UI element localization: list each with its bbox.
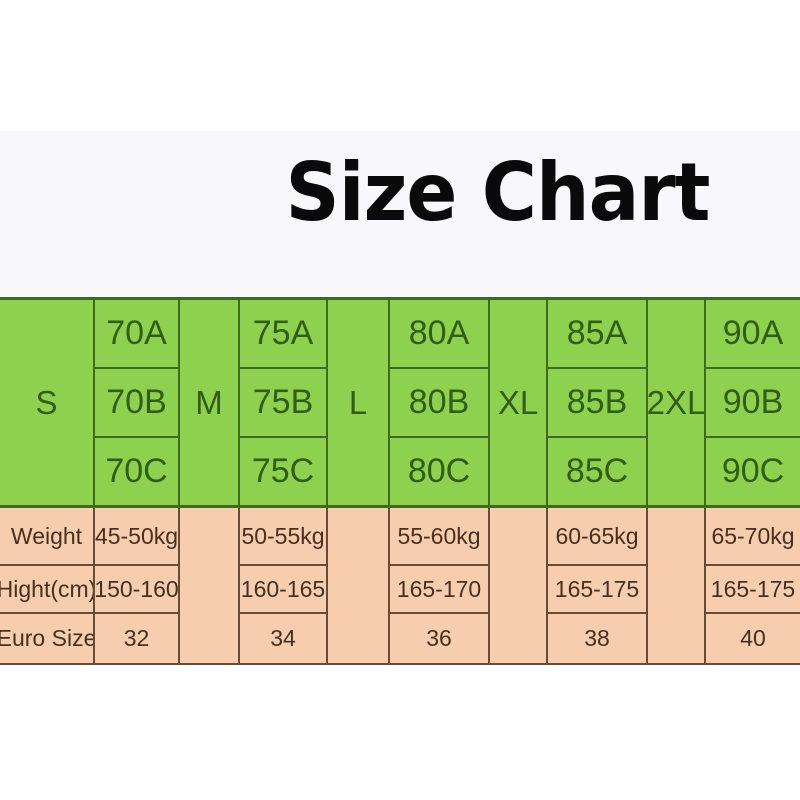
- bra-size-cell: 85B: [548, 369, 648, 438]
- size-chart-table: S M L XL 2XL 70A 70B 70C 75A 75B 75C 80A…: [0, 297, 800, 665]
- height-value: 165-175: [706, 566, 800, 614]
- page-title-container: Size Chart: [0, 140, 800, 245]
- weight-value: 55-60kg: [390, 508, 490, 566]
- spacer-cell-m: [180, 508, 240, 663]
- bra-size-cell: 85C: [548, 438, 648, 505]
- height-value: 165-175: [548, 566, 648, 614]
- bra-size-cell: 80C: [390, 438, 490, 505]
- euro-size-value: 32: [95, 614, 180, 663]
- row-header-weight: Weight: [0, 508, 95, 566]
- weight-value: 60-65kg: [548, 508, 648, 566]
- bra-size-cell: 90B: [706, 369, 800, 438]
- height-value: 160-165: [240, 566, 328, 614]
- weight-value: 50-55kg: [240, 508, 328, 566]
- size-label-m: M: [180, 300, 240, 505]
- row-header-euro-size: Euro Size: [0, 614, 95, 663]
- spacer-cell-xl: [490, 508, 548, 663]
- bra-size-cell: 90C: [706, 438, 800, 505]
- spacer-cell-2xl: [648, 508, 706, 663]
- weight-value: 45-50kg: [95, 508, 180, 566]
- bra-size-cell: 80B: [390, 369, 490, 438]
- row-header-height: Hight(cm): [0, 566, 95, 614]
- height-value: 150-160: [95, 566, 180, 614]
- height-value: 165-170: [390, 566, 490, 614]
- bra-size-cell: 70C: [95, 438, 180, 505]
- euro-size-value: 36: [390, 614, 490, 663]
- size-label-2xl: 2XL: [648, 300, 706, 505]
- size-label-s: S: [0, 300, 95, 505]
- bra-size-cell: 75C: [240, 438, 328, 505]
- euro-size-value: 38: [548, 614, 648, 663]
- bra-size-cell: 75B: [240, 369, 328, 438]
- background-bottom: [0, 665, 800, 800]
- background-upper: [0, 0, 800, 131]
- weight-value: 65-70kg: [706, 508, 800, 566]
- size-label-xl: XL: [490, 300, 548, 505]
- size-label-l: L: [328, 300, 390, 505]
- bra-size-cell: 70A: [95, 300, 180, 369]
- page-title: Size Chart: [286, 153, 710, 233]
- euro-size-value: 34: [240, 614, 328, 663]
- euro-size-value: 40: [706, 614, 800, 663]
- bra-size-cell: 85A: [548, 300, 648, 369]
- bra-size-cell: 70B: [95, 369, 180, 438]
- bra-size-cell: 80A: [390, 300, 490, 369]
- bra-size-cell: 75A: [240, 300, 328, 369]
- spacer-cell-l: [328, 508, 390, 663]
- bra-size-cell: 90A: [706, 300, 800, 369]
